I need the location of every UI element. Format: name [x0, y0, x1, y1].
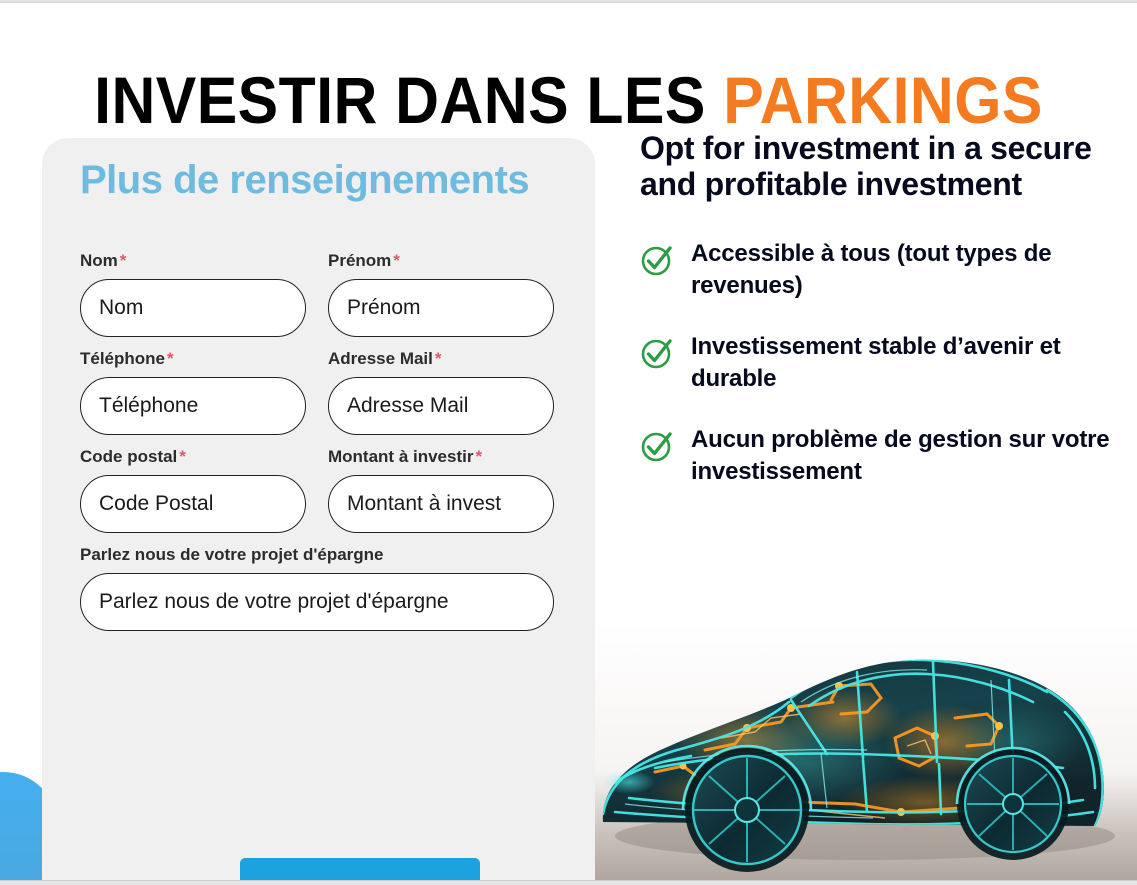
label-adresse-mail-text: Adresse Mail: [328, 349, 433, 368]
form-heading: Plus de renseignements: [80, 158, 529, 203]
label-adresse-mail: Adresse Mail*: [328, 348, 554, 370]
page-title-accent: PARKINGS: [723, 63, 1043, 137]
label-nom-text: Nom: [80, 251, 118, 270]
front-wheel: [685, 748, 809, 872]
form-row-3: Code postal* Montant à investir*: [80, 446, 560, 533]
benefit-label: Accessible à tous (tout types de revenue…: [691, 238, 1110, 302]
field-prenom: Prénom*: [328, 250, 554, 337]
input-projet-epargne[interactable]: [80, 573, 554, 631]
required-asterisk: *: [179, 447, 186, 466]
form-fields: Nom* Prénom* Téléphone* Adresse Mail*: [80, 250, 560, 642]
required-asterisk: *: [120, 251, 127, 270]
page-title-main: INVESTIR DANS LES: [94, 63, 723, 137]
required-asterisk: *: [393, 251, 400, 270]
input-nom[interactable]: [80, 279, 306, 337]
field-adresse-mail: Adresse Mail*: [328, 348, 554, 435]
form-row-2: Téléphone* Adresse Mail*: [80, 348, 560, 435]
input-telephone[interactable]: [80, 377, 306, 435]
form-row-1: Nom* Prénom*: [80, 250, 560, 337]
top-divider: [0, 0, 1137, 3]
input-code-postal[interactable]: [80, 475, 306, 533]
input-adresse-mail[interactable]: [328, 377, 554, 435]
required-asterisk: *: [167, 349, 174, 368]
page-title: INVESTIR DANS LES PARKINGS: [45, 60, 1091, 140]
field-projet-epargne: Parlez nous de votre projet d'épargne: [80, 544, 554, 631]
benefit-label: Aucun problème de gestion sur votre inve…: [691, 424, 1110, 488]
field-nom: Nom*: [80, 250, 306, 337]
benefits-heading: Opt for investment in a secure and profi…: [640, 130, 1110, 202]
check-circle-icon: [640, 429, 674, 468]
field-telephone: Téléphone*: [80, 348, 306, 435]
benefits-panel: Opt for investment in a secure and profi…: [640, 130, 1110, 517]
check-circle-icon: [640, 243, 674, 282]
label-code-postal: Code postal*: [80, 446, 306, 468]
benefit-item: Accessible à tous (tout types de revenue…: [640, 238, 1110, 302]
label-montant: Montant à investir*: [328, 446, 554, 468]
check-circle-icon: [640, 336, 674, 375]
landing-page: INVESTIR DANS LES PARKINGS Plus de rense…: [0, 0, 1137, 885]
benefit-label: Investissement stable d’avenir et durabl…: [691, 331, 1110, 395]
label-nom: Nom*: [80, 250, 306, 272]
lead-form-card: Plus de renseignements Nom* Prénom* Télé…: [42, 138, 595, 885]
field-montant: Montant à investir*: [328, 446, 554, 533]
car-illustration: [595, 622, 1137, 880]
input-montant[interactable]: [328, 475, 554, 533]
benefit-item: Aucun problème de gestion sur votre inve…: [640, 424, 1110, 488]
input-prenom[interactable]: [328, 279, 554, 337]
required-asterisk: *: [475, 447, 482, 466]
required-asterisk: *: [435, 349, 442, 368]
label-montant-text: Montant à investir: [328, 447, 473, 466]
label-prenom-text: Prénom: [328, 251, 391, 270]
label-prenom: Prénom*: [328, 250, 554, 272]
label-code-postal-text: Code postal: [80, 447, 177, 466]
label-telephone-text: Téléphone: [80, 349, 165, 368]
label-telephone: Téléphone*: [80, 348, 306, 370]
field-code-postal: Code postal*: [80, 446, 306, 533]
bottom-divider: [0, 880, 1137, 885]
benefit-item: Investissement stable d’avenir et durabl…: [640, 331, 1110, 395]
label-projet-epargne: Parlez nous de votre projet d'épargne: [80, 544, 554, 566]
form-row-4: Parlez nous de votre projet d'épargne: [80, 544, 560, 631]
